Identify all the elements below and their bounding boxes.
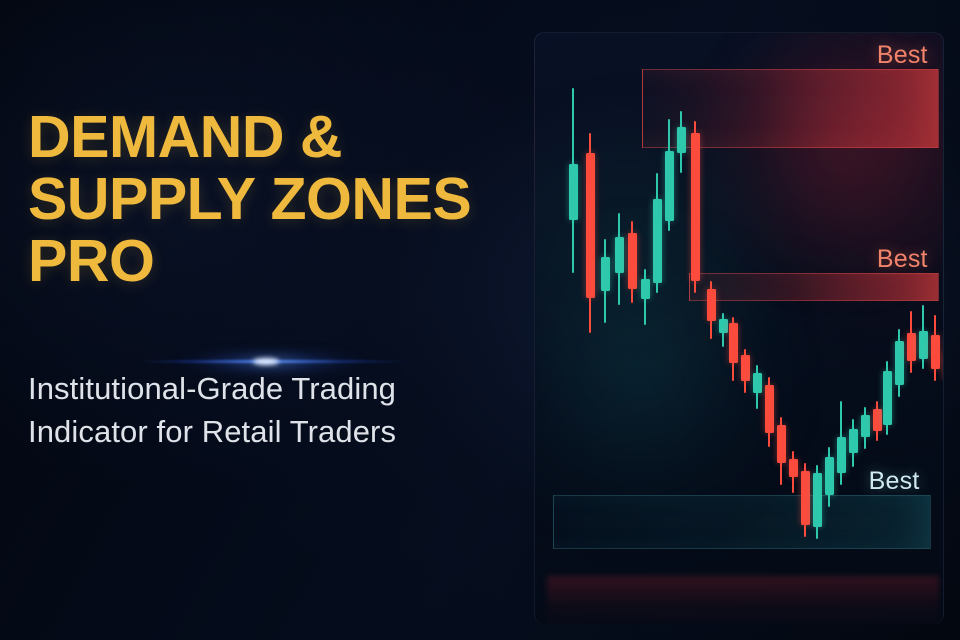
candle (895, 329, 904, 397)
candle (707, 281, 716, 339)
candlestick-chart-panel[interactable]: BestBestBest (534, 32, 944, 624)
candle (641, 269, 650, 325)
candle (719, 313, 728, 347)
candle (943, 343, 945, 389)
candle (861, 407, 870, 449)
candle (825, 447, 834, 507)
candle (789, 451, 798, 493)
demand-zone-1 (553, 495, 931, 549)
candle (837, 401, 846, 485)
candle (801, 463, 810, 537)
candle (677, 111, 686, 173)
supply-zone-1-label: Best (877, 41, 928, 70)
candle (601, 239, 610, 323)
candle (586, 133, 595, 333)
promotional-banner: DEMAND & SUPPLY ZONES PRO Institutional-… (0, 0, 960, 640)
bottom-red-band (547, 576, 939, 624)
hero-text-block: DEMAND & SUPPLY ZONES PRO (28, 106, 528, 293)
title-line-1: DEMAND & (28, 106, 528, 168)
subtitle-line-1: Institutional-Grade Trading (28, 368, 538, 411)
title-line-3: PRO (28, 230, 528, 292)
supply-zone-1 (642, 69, 939, 148)
candle (753, 365, 762, 409)
candle (691, 121, 700, 293)
candle (873, 401, 882, 441)
candle (919, 305, 928, 369)
candle (777, 417, 786, 485)
demand-zone-1-label: Best (869, 467, 920, 496)
candle (729, 317, 738, 381)
candle (653, 173, 662, 293)
page-title: DEMAND & SUPPLY ZONES PRO (28, 106, 528, 293)
candle (765, 377, 774, 447)
candle (665, 119, 674, 231)
candle (931, 315, 940, 381)
candle (569, 88, 578, 273)
title-line-2: SUPPLY ZONES (28, 168, 528, 230)
candle (741, 349, 750, 393)
subtitle-line-2: Indicator for Retail Traders (28, 411, 538, 454)
candle (883, 361, 892, 435)
hero-subtitle: Institutional-Grade Trading Indicator fo… (28, 368, 538, 454)
candle (849, 419, 858, 467)
supply-zone-2 (689, 273, 939, 301)
candle (907, 311, 916, 373)
candle (628, 221, 637, 303)
candle (615, 213, 624, 305)
supply-zone-2-label: Best (877, 245, 928, 274)
candle (813, 465, 822, 539)
